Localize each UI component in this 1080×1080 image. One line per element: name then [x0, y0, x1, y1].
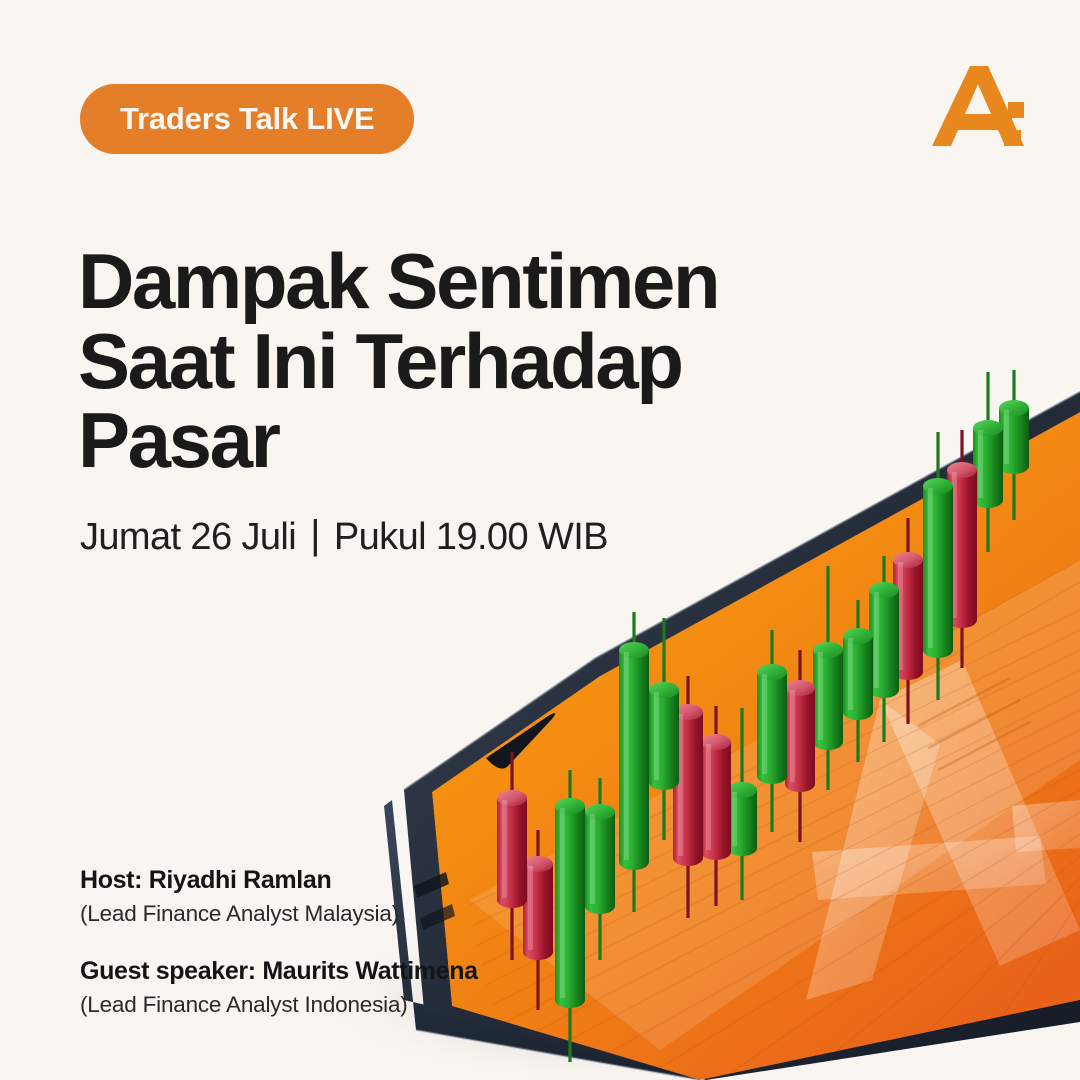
candlestick-18-up: [973, 372, 1003, 552]
screen-scanlines: [470, 560, 1080, 1080]
candlestick-12-up: [813, 566, 843, 790]
candlestick-1-down: [497, 752, 527, 960]
candlestick-2-down: [523, 830, 553, 1010]
guest-name: Guest speaker: Maurits Wattimena: [80, 957, 478, 986]
candlestick-16-up: [923, 432, 953, 700]
schedule-date: Jumat 26 Juli: [80, 516, 296, 559]
phone-bezel: [404, 392, 1080, 1080]
candlestick-14-up: [869, 556, 899, 742]
screen-sheen: [470, 560, 1080, 1050]
phone-bottom-highlight: [416, 1030, 700, 1080]
headline-line-2: Saat Ini Terhadap: [78, 322, 838, 402]
candlestick-13-up: [843, 600, 873, 762]
smartphone: [384, 392, 1080, 1080]
candlestick-17-down: [947, 430, 977, 668]
host-block: Host: Riyadhi Ramlan (Lead Finance Analy…: [80, 866, 478, 927]
candlestick-9-up: [727, 708, 757, 900]
ajaib-a-logo: [920, 58, 1040, 166]
speakers-block: Host: Riyadhi Ramlan (Lead Finance Analy…: [80, 866, 478, 1018]
candlestick-3-up: [555, 770, 585, 1062]
candlestick-5-up: [619, 612, 649, 912]
candlestick-8-down: [701, 706, 731, 906]
headline-line-1: Dampak Sentimen: [78, 242, 838, 322]
candlestick-11-down: [785, 650, 815, 842]
screen-tick-marks: [918, 678, 1030, 770]
phone-screen: [432, 412, 1080, 1080]
headline-line-3: Pasar: [78, 401, 838, 481]
poster-canvas: Traders Talk LIVE Dampak Sentimen Saat I…: [0, 0, 1080, 1080]
screen-watermark-logo: [806, 660, 1080, 1000]
candlestick-19-up: [999, 370, 1029, 520]
schedule-line: Jumat 26 Juli | Pukul 19.00 WIB: [80, 515, 608, 560]
host-name: Host: Riyadhi Ramlan: [80, 866, 478, 895]
candlestick-4-up: [585, 778, 615, 960]
guest-role: (Lead Finance Analyst Indonesia): [80, 992, 478, 1018]
candlestick-15-down: [893, 518, 923, 724]
phone-notch: [486, 713, 555, 769]
host-role: (Lead Finance Analyst Malaysia): [80, 901, 478, 927]
candlestick-7-down: [673, 676, 703, 918]
page-title: Dampak Sentimen Saat Ini Terhadap Pasar: [78, 242, 838, 481]
traders-talk-live-badge[interactable]: Traders Talk LIVE: [80, 84, 414, 154]
badge-label: Traders Talk LIVE: [120, 101, 374, 137]
schedule-time: Pukul 19.00 WIB: [334, 516, 608, 559]
schedule-separator: |: [310, 513, 320, 558]
guest-block: Guest speaker: Maurits Wattimena (Lead F…: [80, 957, 478, 1018]
candlestick-10-up: [757, 630, 787, 832]
candlestick-6-up: [649, 618, 679, 840]
